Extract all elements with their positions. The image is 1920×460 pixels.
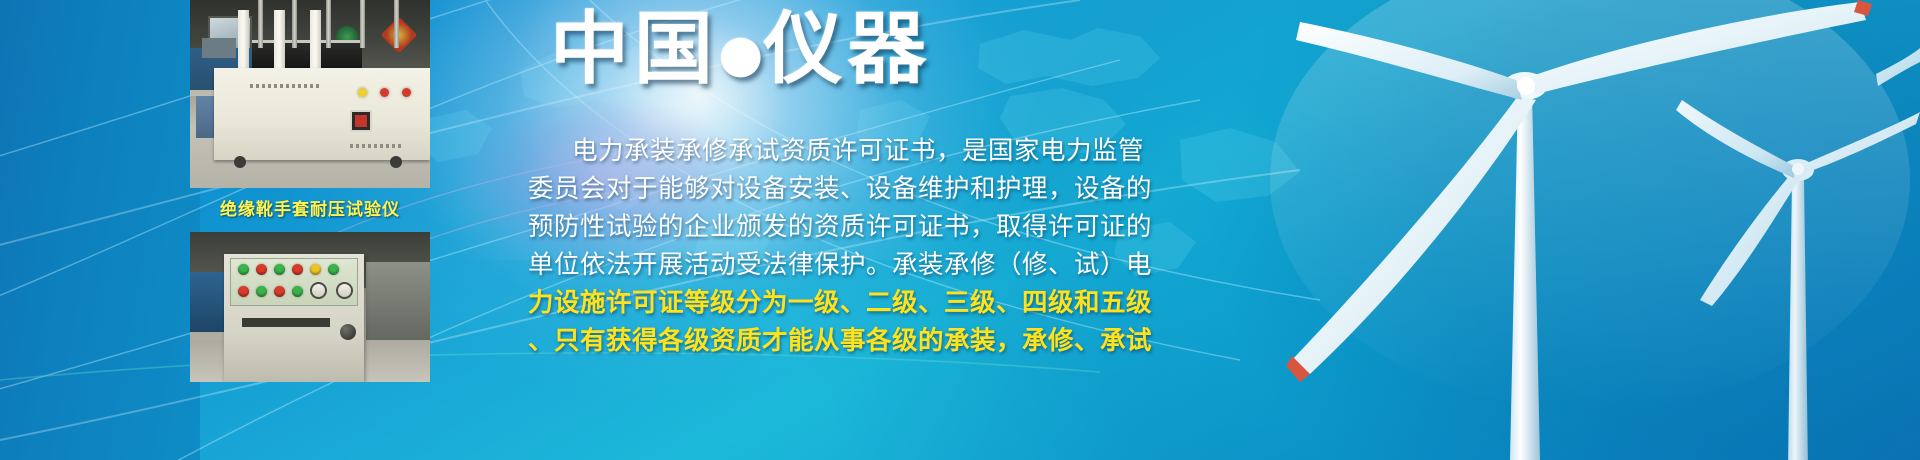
headline-part-one: 中国 bbox=[550, 3, 718, 95]
insulating-boots-gloves-withstand-voltage-tester-photo[interactable] bbox=[190, 0, 430, 188]
product-gallery: 绝缘靴手套耐压试验仪 bbox=[190, 0, 430, 460]
description-paragraph: 电力承装承修承试资质许可证书，是国家电力监管 委员会对于能够对设备安装、设备维护… bbox=[528, 132, 1068, 360]
bullet-separator-icon: ● bbox=[718, 24, 763, 84]
paragraph-line: 委员会对于能够对设备安装、设备维护和护理，设备的 bbox=[528, 170, 1068, 208]
wind-turbine-illustration bbox=[1160, 0, 1920, 460]
paragraph-line-highlight: 、只有获得各级资质才能从事各级的承装，承修、承试 bbox=[528, 322, 1068, 360]
paragraph-line: 单位依法开展活动受法律保护。承装承修（修、试）电 bbox=[528, 246, 1068, 284]
promo-banner: 绝缘靴手套耐压试验仪 bbox=[0, 0, 1920, 460]
left-gradient-panel bbox=[0, 0, 200, 460]
control-console-cabinet-photo[interactable] bbox=[190, 232, 430, 382]
product-caption: 绝缘靴手套耐压试验仪 bbox=[190, 188, 430, 220]
headline-part-two: 仪器 bbox=[763, 3, 931, 95]
paragraph-line: 预防性试验的企业颁发的资质许可证书，取得许可证的 bbox=[528, 208, 1068, 246]
product-card[interactable]: 绝缘靴手套耐压试验仪 bbox=[190, 0, 430, 220]
text-content: 中国●仪器 电力承装承修承试资质许可证书，是国家电力监管 委员会对于能够对设备安… bbox=[470, 0, 1090, 460]
right-gradient-panel bbox=[1160, 0, 1920, 460]
product-card[interactable] bbox=[190, 232, 430, 382]
paragraph-line-highlight: 力设施许可证等级分为一级、二级、三级、四级和五级 bbox=[528, 284, 1068, 322]
paragraph-line: 电力承装承修承试资质许可证书，是国家电力监管 bbox=[528, 132, 1068, 170]
page-title: 中国●仪器 bbox=[550, 8, 931, 91]
